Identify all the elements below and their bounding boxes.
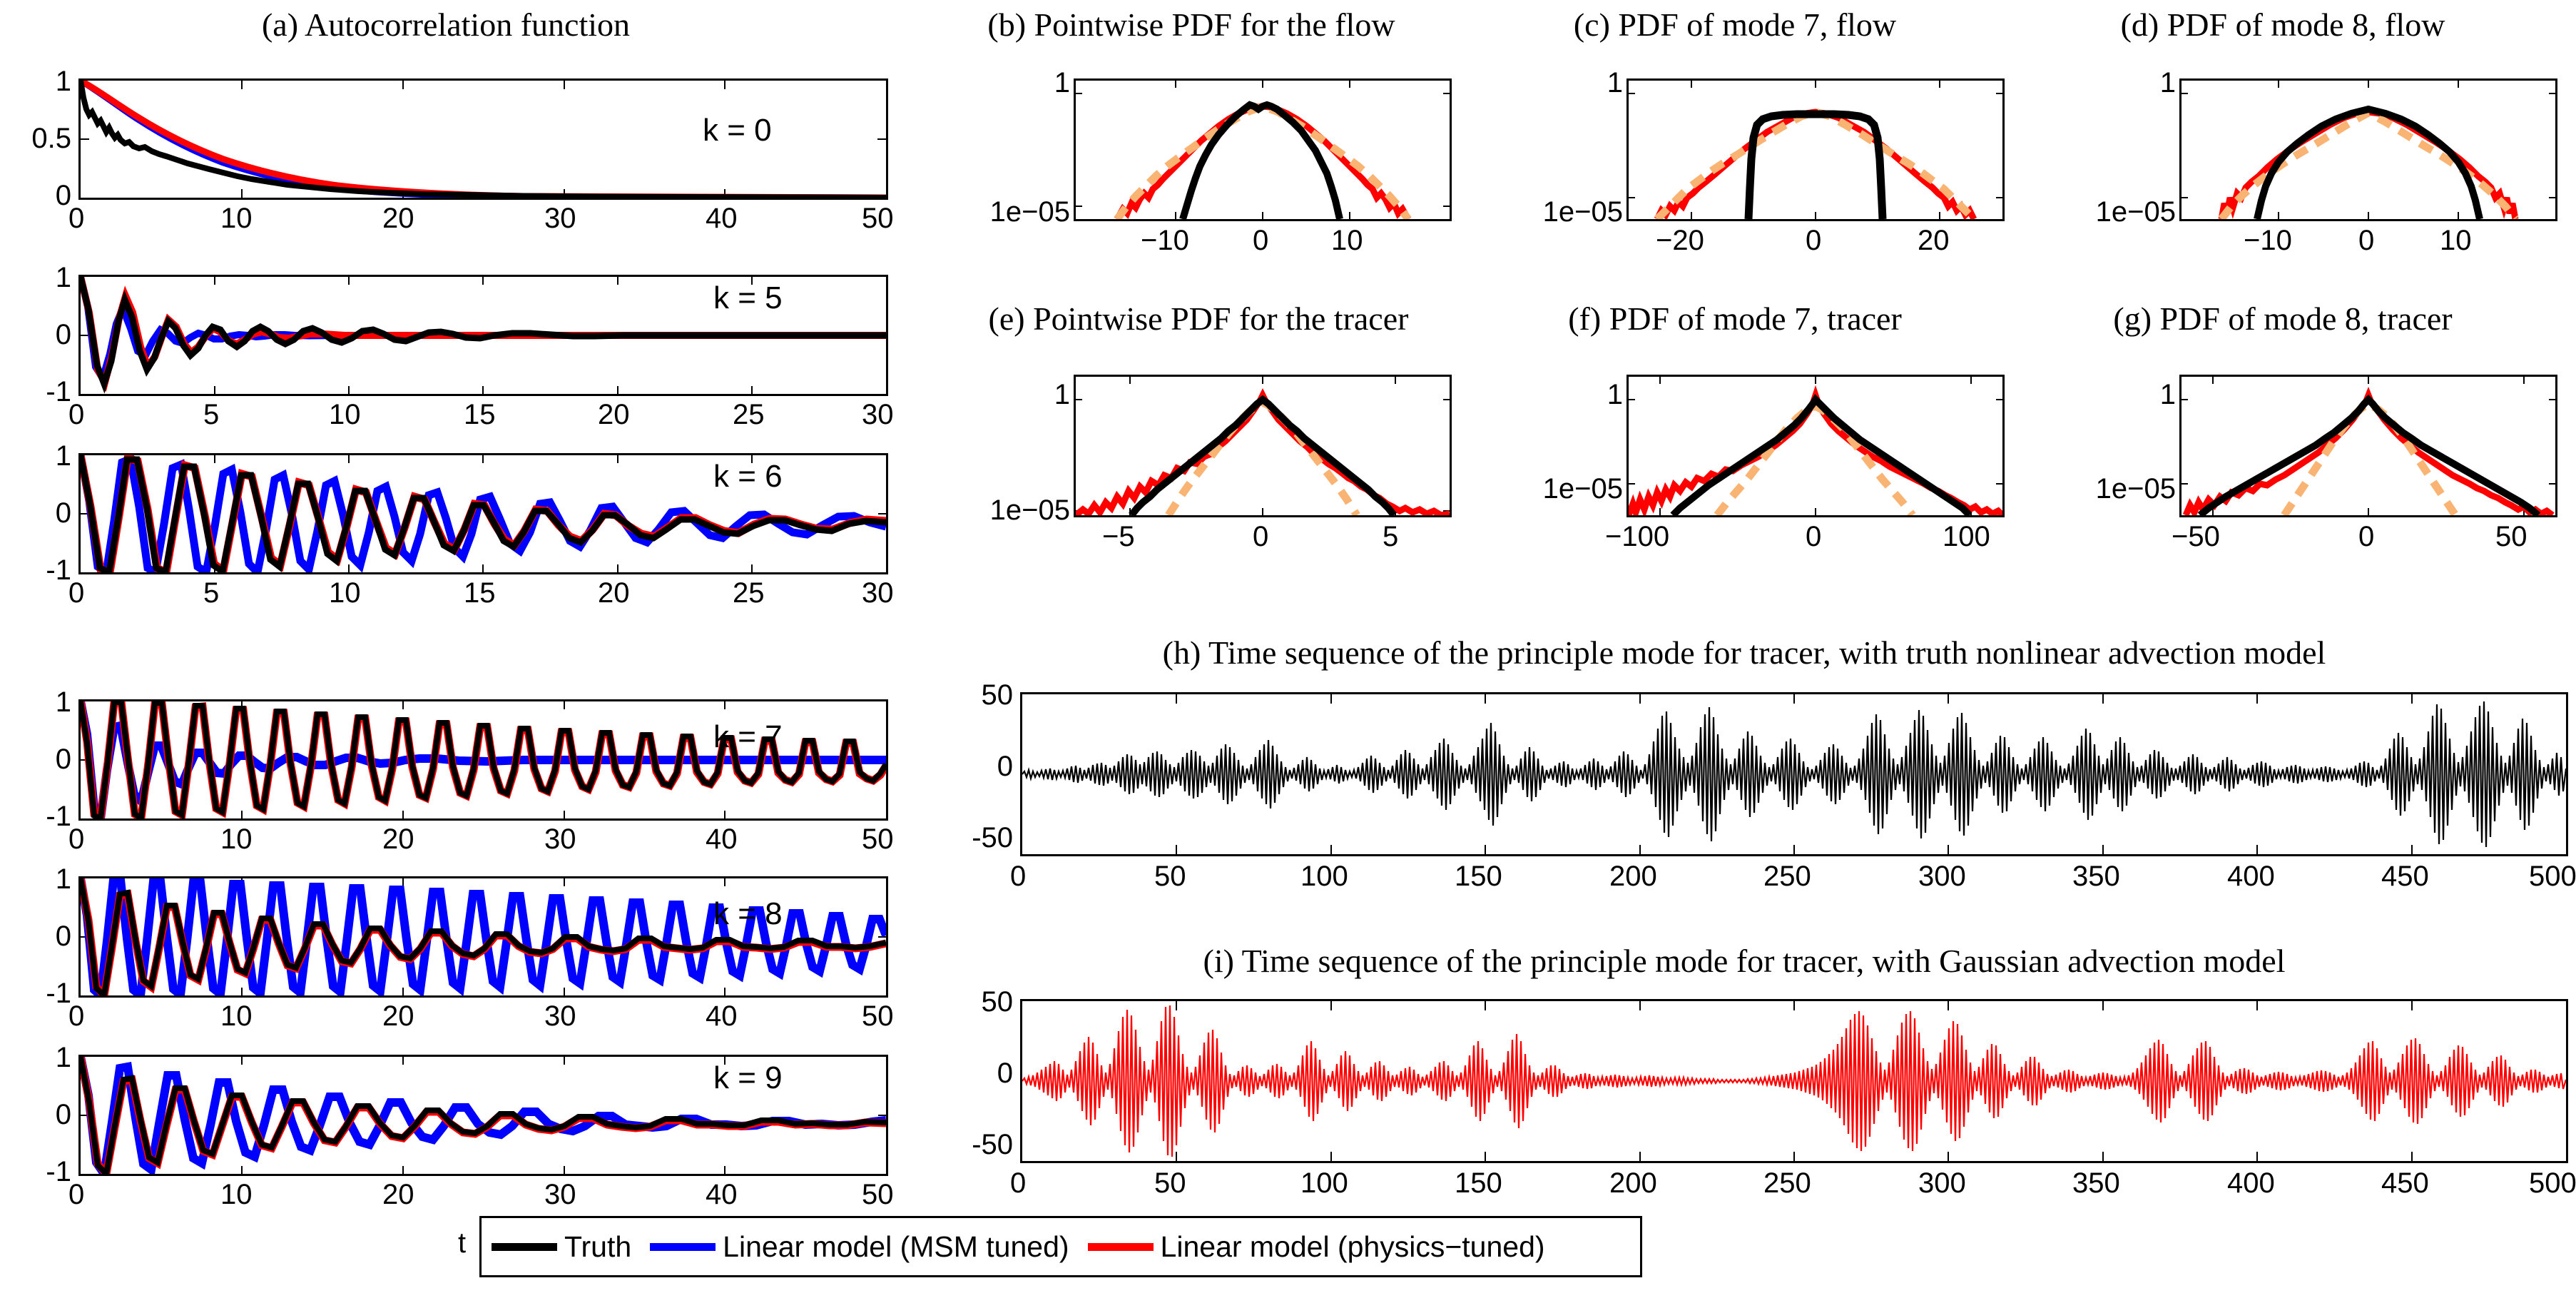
panel-a-k0-xtick-30: 30 xyxy=(544,203,576,235)
panel-c-xtick-m20: −20 xyxy=(1656,225,1704,257)
panel-d-ytick-1: 1 xyxy=(2019,67,2176,99)
panel-a-k6: 1 0 -1 k = 6 0 5 10 15 20 25 30 xyxy=(0,453,906,614)
panel-a-k0-xtick-50: 50 xyxy=(862,203,894,235)
panel-d-ytick-1e-05: 1e−05 xyxy=(2019,196,2176,228)
legend-swatch-physics xyxy=(1088,1243,1154,1251)
panel-c-xtick-20: 20 xyxy=(1918,225,1950,257)
panel-e-title: (e) Pointwise PDF for the tracer xyxy=(927,300,1470,338)
panel-a-k6-xtick-0: 0 xyxy=(68,577,84,609)
panel-a-k5-ytick-m1: -1 xyxy=(0,376,71,408)
panel-d: 1 1e−05 −10 0 10 xyxy=(2033,78,2575,257)
panel-a-k6-xtick-10: 10 xyxy=(329,577,361,609)
panel-f-xtick-m100: −100 xyxy=(1605,521,1669,553)
panel-a-k7-xtick-20: 20 xyxy=(382,823,414,856)
panel-g-xtick-0: 0 xyxy=(2358,521,2374,553)
panel-f-ytick-1: 1 xyxy=(1466,379,1623,411)
panel-a-k7-xtick-50: 50 xyxy=(862,823,894,856)
panel-i-xtick-300: 300 xyxy=(1918,1167,1966,1200)
panel-a-k7-ytick-1: 1 xyxy=(0,686,71,719)
panel-a-k6-xtick-25: 25 xyxy=(733,577,765,609)
legend-item-physics[interactable]: Linear model (physics−tuned) xyxy=(1088,1230,1545,1264)
panel-h-xtick-50: 50 xyxy=(1154,861,1186,893)
series-truth xyxy=(1673,400,1970,515)
legend-item-msm[interactable]: Linear model (MSM tuned) xyxy=(650,1230,1069,1264)
panel-i-ytick-50: 50 xyxy=(927,986,1013,1018)
legend-label-physics: Linear model (physics−tuned) xyxy=(1161,1230,1545,1264)
panel-b-xtick-10: 10 xyxy=(1331,225,1363,257)
panel-a-k8-xtick-30: 30 xyxy=(544,1000,576,1033)
panel-a-k0-xtick-20: 20 xyxy=(382,203,414,235)
panel-h-ytick-0: 0 xyxy=(927,751,1013,783)
panel-a-k8-xtick-40: 40 xyxy=(706,1000,738,1033)
panel-a-k0-ytick-0: 0 xyxy=(0,180,71,212)
panel-a-k6-label: k = 6 xyxy=(713,459,783,495)
panel-a-k8-axes xyxy=(78,876,888,998)
panel-a-k5-xtick-25: 25 xyxy=(733,399,765,431)
panel-a-k0-xtick-0: 0 xyxy=(68,203,84,235)
panel-a-k5: 1 0 -1 k = 5 0 5 10 15 20 25 30 xyxy=(0,275,906,435)
panel-c: 1 1e−05 −20 0 20 xyxy=(1480,78,2022,257)
panel-h-xtick-250: 250 xyxy=(1763,861,1811,893)
panel-f-ytick-1e-05: 1e−05 xyxy=(1466,473,1623,505)
panel-a-k9-ytick-m1: -1 xyxy=(0,1156,71,1188)
panel-b-xtick-m10: −10 xyxy=(1141,225,1189,257)
panel-a-k8-xtick-0: 0 xyxy=(68,1000,84,1033)
panel-i-xtick-100: 100 xyxy=(1300,1167,1348,1200)
panel-a-k7-xtick-40: 40 xyxy=(706,823,738,856)
panel-g: 1 1e−05 −50 0 50 xyxy=(2033,375,2575,553)
panel-f: 1 1e−05 −100 0 100 xyxy=(1480,375,2022,553)
panel-a-k5-xtick-10: 10 xyxy=(329,399,361,431)
panel-a-k7: 1 0 -1 k = 7 0 10 20 30 40 50 xyxy=(0,699,906,860)
panel-a-k9-xtick-0: 0 xyxy=(68,1179,84,1211)
panel-i: 50 0 -50 0 50 100 150 200 250 300 350 40… xyxy=(927,999,2568,1192)
panel-h-xtick-200: 200 xyxy=(1609,861,1657,893)
panel-a-k7-axes xyxy=(78,699,888,821)
panel-e-xtick-5: 5 xyxy=(1383,521,1398,553)
panel-h-xtick-300: 300 xyxy=(1918,861,1966,893)
panel-e-axes xyxy=(1074,375,1452,517)
series-physics xyxy=(2186,395,2552,515)
panel-h: 50 0 -50 0 50 100 150 200 250 300 350 40… xyxy=(927,692,2568,885)
panel-a-k5-xtick-15: 15 xyxy=(464,399,496,431)
panel-i-xtick-50: 50 xyxy=(1154,1167,1186,1200)
panel-g-ytick-1e-05: 1e−05 xyxy=(2019,473,2176,505)
panel-a-k8: 1 0 -1 k = 8 0 10 20 30 40 50 xyxy=(0,876,906,1037)
panel-f-xtick-0: 0 xyxy=(1806,521,1821,553)
panel-a-k9-label: k = 9 xyxy=(713,1060,783,1096)
panel-a-k6-ytick-m1: -1 xyxy=(0,554,71,587)
panel-i-ytick-0: 0 xyxy=(927,1058,1013,1090)
panel-b-title: (b) Pointwise PDF for the flow xyxy=(927,6,1455,44)
panel-a-k9-xtick-40: 40 xyxy=(706,1179,738,1211)
panel-a-k8-xtick-10: 10 xyxy=(220,1000,253,1033)
panel-a-k8-ytick-m1: -1 xyxy=(0,978,71,1010)
panel-g-xtick-50: 50 xyxy=(2495,521,2527,553)
panel-a-k0-xtick-40: 40 xyxy=(706,203,738,235)
panel-a-k7-ytick-m1: -1 xyxy=(0,801,71,833)
panel-h-xtick-450: 450 xyxy=(2381,861,2429,893)
legend-item-truth[interactable]: Truth xyxy=(492,1230,631,1264)
panel-d-axes xyxy=(2179,78,2557,221)
panel-h-xtick-100: 100 xyxy=(1300,861,1348,893)
legend-swatch-msm xyxy=(650,1243,716,1251)
panel-h-xtick-150: 150 xyxy=(1455,861,1502,893)
panel-a-k5-label: k = 5 xyxy=(713,280,783,316)
panel-a-xaxis-name: t xyxy=(458,1227,466,1259)
panel-c-ytick-1: 1 xyxy=(1466,67,1623,99)
panel-a-k7-xtick-0: 0 xyxy=(68,823,84,856)
panel-a-k7-xtick-10: 10 xyxy=(220,823,253,856)
panel-i-ytick-m50: -50 xyxy=(927,1129,1013,1161)
panel-a-k6-xtick-30: 30 xyxy=(862,577,894,609)
panel-d-xtick-10: 10 xyxy=(2440,225,2472,257)
panel-d-title: (d) PDF of mode 8, flow xyxy=(2055,6,2511,44)
panel-a-k6-xtick-20: 20 xyxy=(598,577,630,609)
panel-a-k7-label: k = 7 xyxy=(713,719,783,755)
panel-h-xtick-0: 0 xyxy=(1010,861,1026,893)
panel-a-k0-label: k = 0 xyxy=(703,113,772,148)
panel-e: 1 1e−05 −5 0 5 xyxy=(927,375,1470,553)
panel-i-xtick-450: 450 xyxy=(2381,1167,2429,1200)
panel-f-axes xyxy=(1626,375,2005,517)
panel-a-k8-xtick-20: 20 xyxy=(382,1000,414,1033)
series-gaussian-fit xyxy=(1657,112,1974,219)
panel-i-xtick-250: 250 xyxy=(1763,1167,1811,1200)
panel-a-k0-xtick-10: 10 xyxy=(220,203,253,235)
panel-c-xtick-0: 0 xyxy=(1806,225,1821,257)
series-physics xyxy=(2221,112,2515,219)
series-physics xyxy=(1022,1005,2566,1157)
panel-a-k0-ytick-1: 1 xyxy=(0,66,71,98)
panel-a-k9-xtick-20: 20 xyxy=(382,1179,414,1211)
panel-e-ytick-1e-05: 1e−05 xyxy=(913,495,1070,527)
legend-label-msm: Linear model (MSM tuned) xyxy=(723,1230,1069,1264)
panel-f-xtick-100: 100 xyxy=(1943,521,1990,553)
panel-e-xtick-0: 0 xyxy=(1253,521,1268,553)
panel-h-ytick-50: 50 xyxy=(927,679,1013,711)
panel-a-k8-xtick-50: 50 xyxy=(862,1000,894,1033)
panel-a-k5-ytick-0: 0 xyxy=(0,319,71,351)
legend-label-truth: Truth xyxy=(564,1230,631,1264)
panel-a-k9-xtick-50: 50 xyxy=(862,1179,894,1211)
panel-a-title: (a) Autocorrelation function xyxy=(175,6,717,44)
panel-e-xtick-m5: −5 xyxy=(1102,521,1135,553)
panel-c-axes xyxy=(1626,78,2005,221)
series-truth xyxy=(1022,701,2566,847)
panel-d-xtick-m10: −10 xyxy=(2244,225,2292,257)
panel-i-xtick-150: 150 xyxy=(1455,1167,1502,1200)
series-physics xyxy=(1117,106,1408,219)
panel-a-k9: 1 0 -1 k = 9 0 10 20 30 40 50 xyxy=(0,1055,906,1215)
panel-i-title: (i) Time sequence of the principle mode … xyxy=(927,942,2561,980)
panel-a-k9-xtick-30: 30 xyxy=(544,1179,576,1211)
series-truth xyxy=(1131,400,1394,515)
panel-h-xtick-400: 400 xyxy=(2227,861,2275,893)
panel-h-title: (h) Time sequence of the principle mode … xyxy=(927,634,2561,671)
panel-i-xtick-350: 350 xyxy=(2072,1167,2120,1200)
panel-h-xtick-500: 500 xyxy=(2529,861,2576,893)
legend-swatch-truth xyxy=(492,1243,557,1251)
panel-a-k6-xtick-15: 15 xyxy=(464,577,496,609)
panel-b-ytick-1e-05: 1e−05 xyxy=(913,196,1070,228)
panel-g-title: (g) PDF of mode 8, tracer xyxy=(2055,300,2511,338)
panel-b-ytick-1: 1 xyxy=(913,67,1070,99)
panel-h-axes xyxy=(1020,692,2568,856)
panel-a-k0: 1 0.5 0 k = 0 0 10 20 30 40 50 xyxy=(0,78,906,239)
panel-h-ytick-m50: -50 xyxy=(927,822,1013,854)
series-truth xyxy=(2200,400,2538,515)
panel-b: 1 1e−05 −10 0 10 xyxy=(927,78,1470,257)
panel-a-k5-xtick-20: 20 xyxy=(598,399,630,431)
panel-a-k5-ytick-1: 1 xyxy=(0,262,71,294)
panel-a-k5-xtick-30: 30 xyxy=(862,399,894,431)
panel-e-ytick-1: 1 xyxy=(913,379,1070,411)
panel-a-k7-ytick-0: 0 xyxy=(0,744,71,776)
panel-i-xtick-0: 0 xyxy=(1010,1167,1026,1200)
panel-a-k8-ytick-0: 0 xyxy=(0,921,71,953)
panel-c-title: (c) PDF of mode 7, flow xyxy=(1507,6,1963,44)
panel-a-k9-xtick-10: 10 xyxy=(220,1179,253,1211)
panel-a-k7-xtick-30: 30 xyxy=(544,823,576,856)
panel-a-k9-ytick-1: 1 xyxy=(0,1042,71,1074)
panel-f-title: (f) PDF of mode 7, tracer xyxy=(1507,300,1963,338)
panel-g-axes xyxy=(2179,375,2557,517)
series-gaussian-fit xyxy=(1117,106,1408,219)
panel-a-k0-ytick-0.5: 0.5 xyxy=(0,123,71,155)
panel-i-xtick-200: 200 xyxy=(1609,1167,1657,1200)
series-truth xyxy=(2257,109,2480,219)
panel-a-k5-xtick-5: 5 xyxy=(203,399,219,431)
panel-c-ytick-1e-05: 1e−05 xyxy=(1466,196,1623,228)
panel-d-xtick-0: 0 xyxy=(2358,225,2374,257)
panel-a-k6-ytick-1: 1 xyxy=(0,440,71,472)
panel-g-ytick-1: 1 xyxy=(2019,379,2176,411)
figure-legend: Truth Linear model (MSM tuned) Linear mo… xyxy=(479,1216,1642,1277)
panel-a-k6-ytick-0: 0 xyxy=(0,497,71,529)
panel-i-xtick-500: 500 xyxy=(2529,1167,2576,1200)
series-physics xyxy=(1076,395,1450,515)
panel-h-xtick-350: 350 xyxy=(2072,861,2120,893)
panel-g-xtick-m50: −50 xyxy=(2172,521,2220,553)
panel-a-k5-xtick-0: 0 xyxy=(68,399,84,431)
panel-a-k8-label: k = 8 xyxy=(713,896,783,932)
panel-a-k6-xtick-5: 5 xyxy=(203,577,219,609)
panel-b-xtick-0: 0 xyxy=(1253,225,1268,257)
panel-a-k9-ytick-0: 0 xyxy=(0,1099,71,1131)
panel-i-xtick-400: 400 xyxy=(2227,1167,2275,1200)
series-physics xyxy=(1657,112,1974,219)
series-truth xyxy=(1183,105,1340,219)
panel-b-axes xyxy=(1074,78,1452,221)
panel-a-k8-ytick-1: 1 xyxy=(0,863,71,896)
panel-i-axes xyxy=(1020,999,2568,1163)
